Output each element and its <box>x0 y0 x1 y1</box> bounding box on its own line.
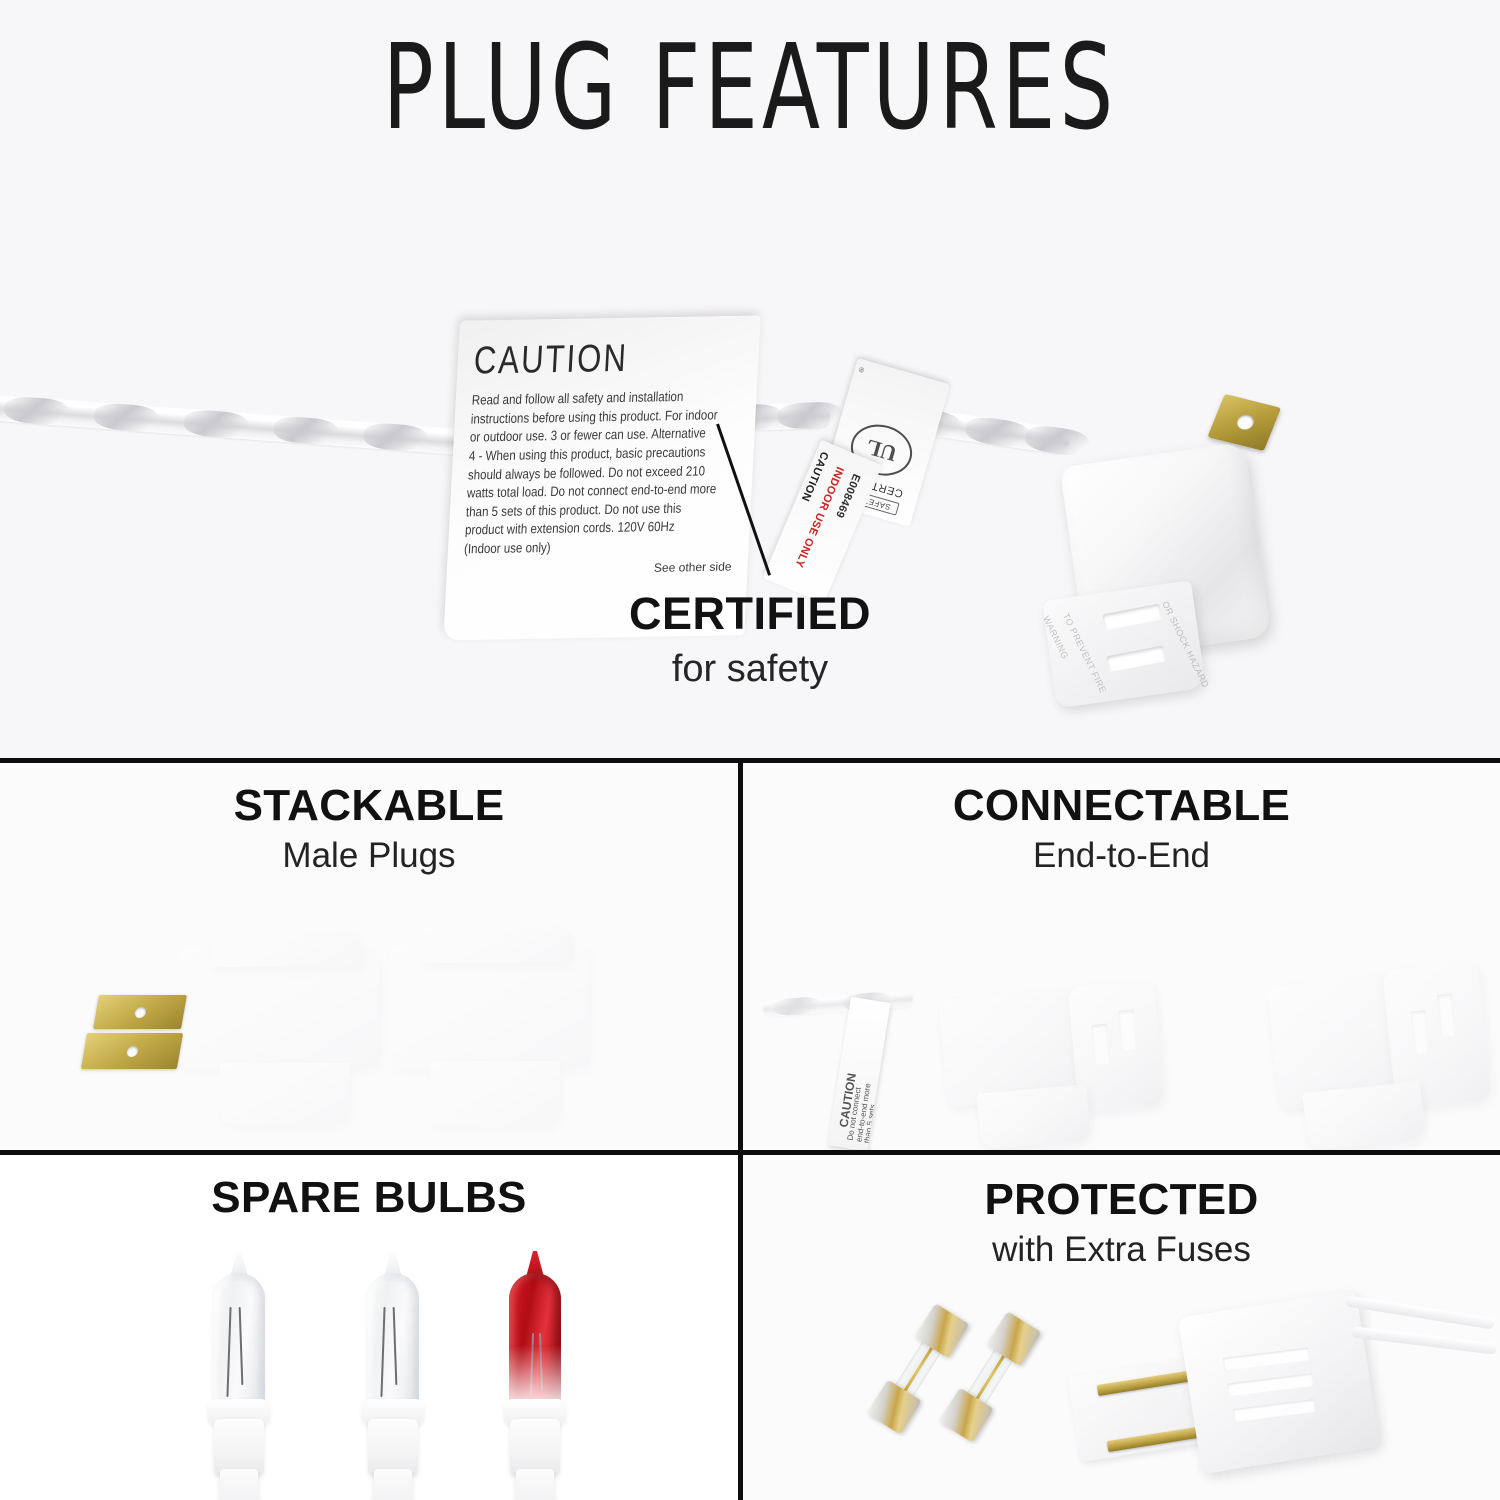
registered-trademark-icon: ® <box>858 365 865 373</box>
plug-slot <box>1410 1010 1429 1053</box>
protected-plug <box>1073 1273 1500 1500</box>
panel-protected-title: PROTECTED <box>743 1177 1500 1223</box>
bulb-glass <box>367 1273 419 1407</box>
bulb-foot <box>516 1469 554 1500</box>
certified-callout: CERTIFIED for safety <box>0 588 1500 691</box>
plug-prong-icon <box>93 995 187 1029</box>
infographic-page: PLUG FEATURES CAUTION Read and follow al… <box>0 0 1500 1500</box>
stackable-plug-skirt <box>220 1063 350 1125</box>
panel-stackable: STACKABLE Male Plugs <box>0 763 738 1150</box>
panel-stackable-title: STACKABLE <box>0 783 738 829</box>
page-title: PLUG FEATURES <box>150 26 1350 150</box>
plug-body <box>1178 1290 1381 1474</box>
bulb-glass <box>213 1273 265 1407</box>
bulb-wattage-label: 8 <box>521 1258 527 1269</box>
caution-line: (Indoor use only) <box>463 535 733 562</box>
socket-slot <box>1091 1024 1110 1065</box>
certified-callout-subtitle: for safety <box>0 648 1500 691</box>
bulb-foot <box>374 1469 412 1500</box>
plug-cord <box>1345 1295 1495 1329</box>
caution-tag-heading: CAUTION <box>473 334 744 384</box>
panel-stackable-subtitle: Male Plugs <box>0 836 738 876</box>
panel-spare-bulbs: SPARE BULBS 8 <box>0 1155 738 1500</box>
bulb-glass <box>509 1273 561 1407</box>
connectable-cord <box>763 990 914 1017</box>
cord-left <box>0 394 470 455</box>
bulb-foot <box>220 1469 258 1500</box>
bulb-base <box>510 1419 560 1475</box>
plug-prong-icon <box>81 1033 183 1069</box>
certified-callout-title: CERTIFIED <box>0 588 1500 640</box>
ul-certification-tag: SAFETY US CERTIFIED UL ® E008469 INDOOR … <box>768 352 954 626</box>
plug-cord <box>1351 1326 1497 1355</box>
stackable-prong-group <box>84 991 214 1087</box>
stackable-plug-skirt <box>430 1061 560 1127</box>
stackable-plug-top <box>210 931 360 967</box>
stackable-plug-top <box>420 927 570 963</box>
panel-connectable: CONNECTABLE End-to-End CAUTION Do not co… <box>743 763 1500 1150</box>
panel-spare-bulbs-title: SPARE BULBS <box>0 1175 738 1221</box>
plug-slot <box>1437 993 1456 1036</box>
caution-tag-footer: See other side <box>463 559 732 578</box>
socket-skirt <box>977 1084 1091 1149</box>
female-socket <box>933 963 1183 1150</box>
bulb-base <box>214 1419 264 1475</box>
bulb-base <box>368 1419 418 1475</box>
panel-protected: PROTECTED with Extra Fuses <box>743 1155 1500 1500</box>
panel-connectable-title: CONNECTABLE <box>743 783 1500 829</box>
stackable-plug <box>390 945 590 1069</box>
connectable-caution-tag: CAUTION Do not connect end-to-end more t… <box>828 997 891 1150</box>
plug-prong-icon <box>1207 394 1281 451</box>
panel-protected-subtitle: with Extra Fuses <box>743 1230 1500 1270</box>
connectable-male-plug <box>1213 955 1500 1150</box>
hero-plug: WARNING TO PREVENT FIRE OR SHOCK HAZARD <box>1018 396 1311 758</box>
panel-connectable-subtitle: End-to-End <box>743 836 1500 876</box>
socket-slot <box>1118 1009 1137 1050</box>
plug-skirt <box>1302 1081 1425 1150</box>
